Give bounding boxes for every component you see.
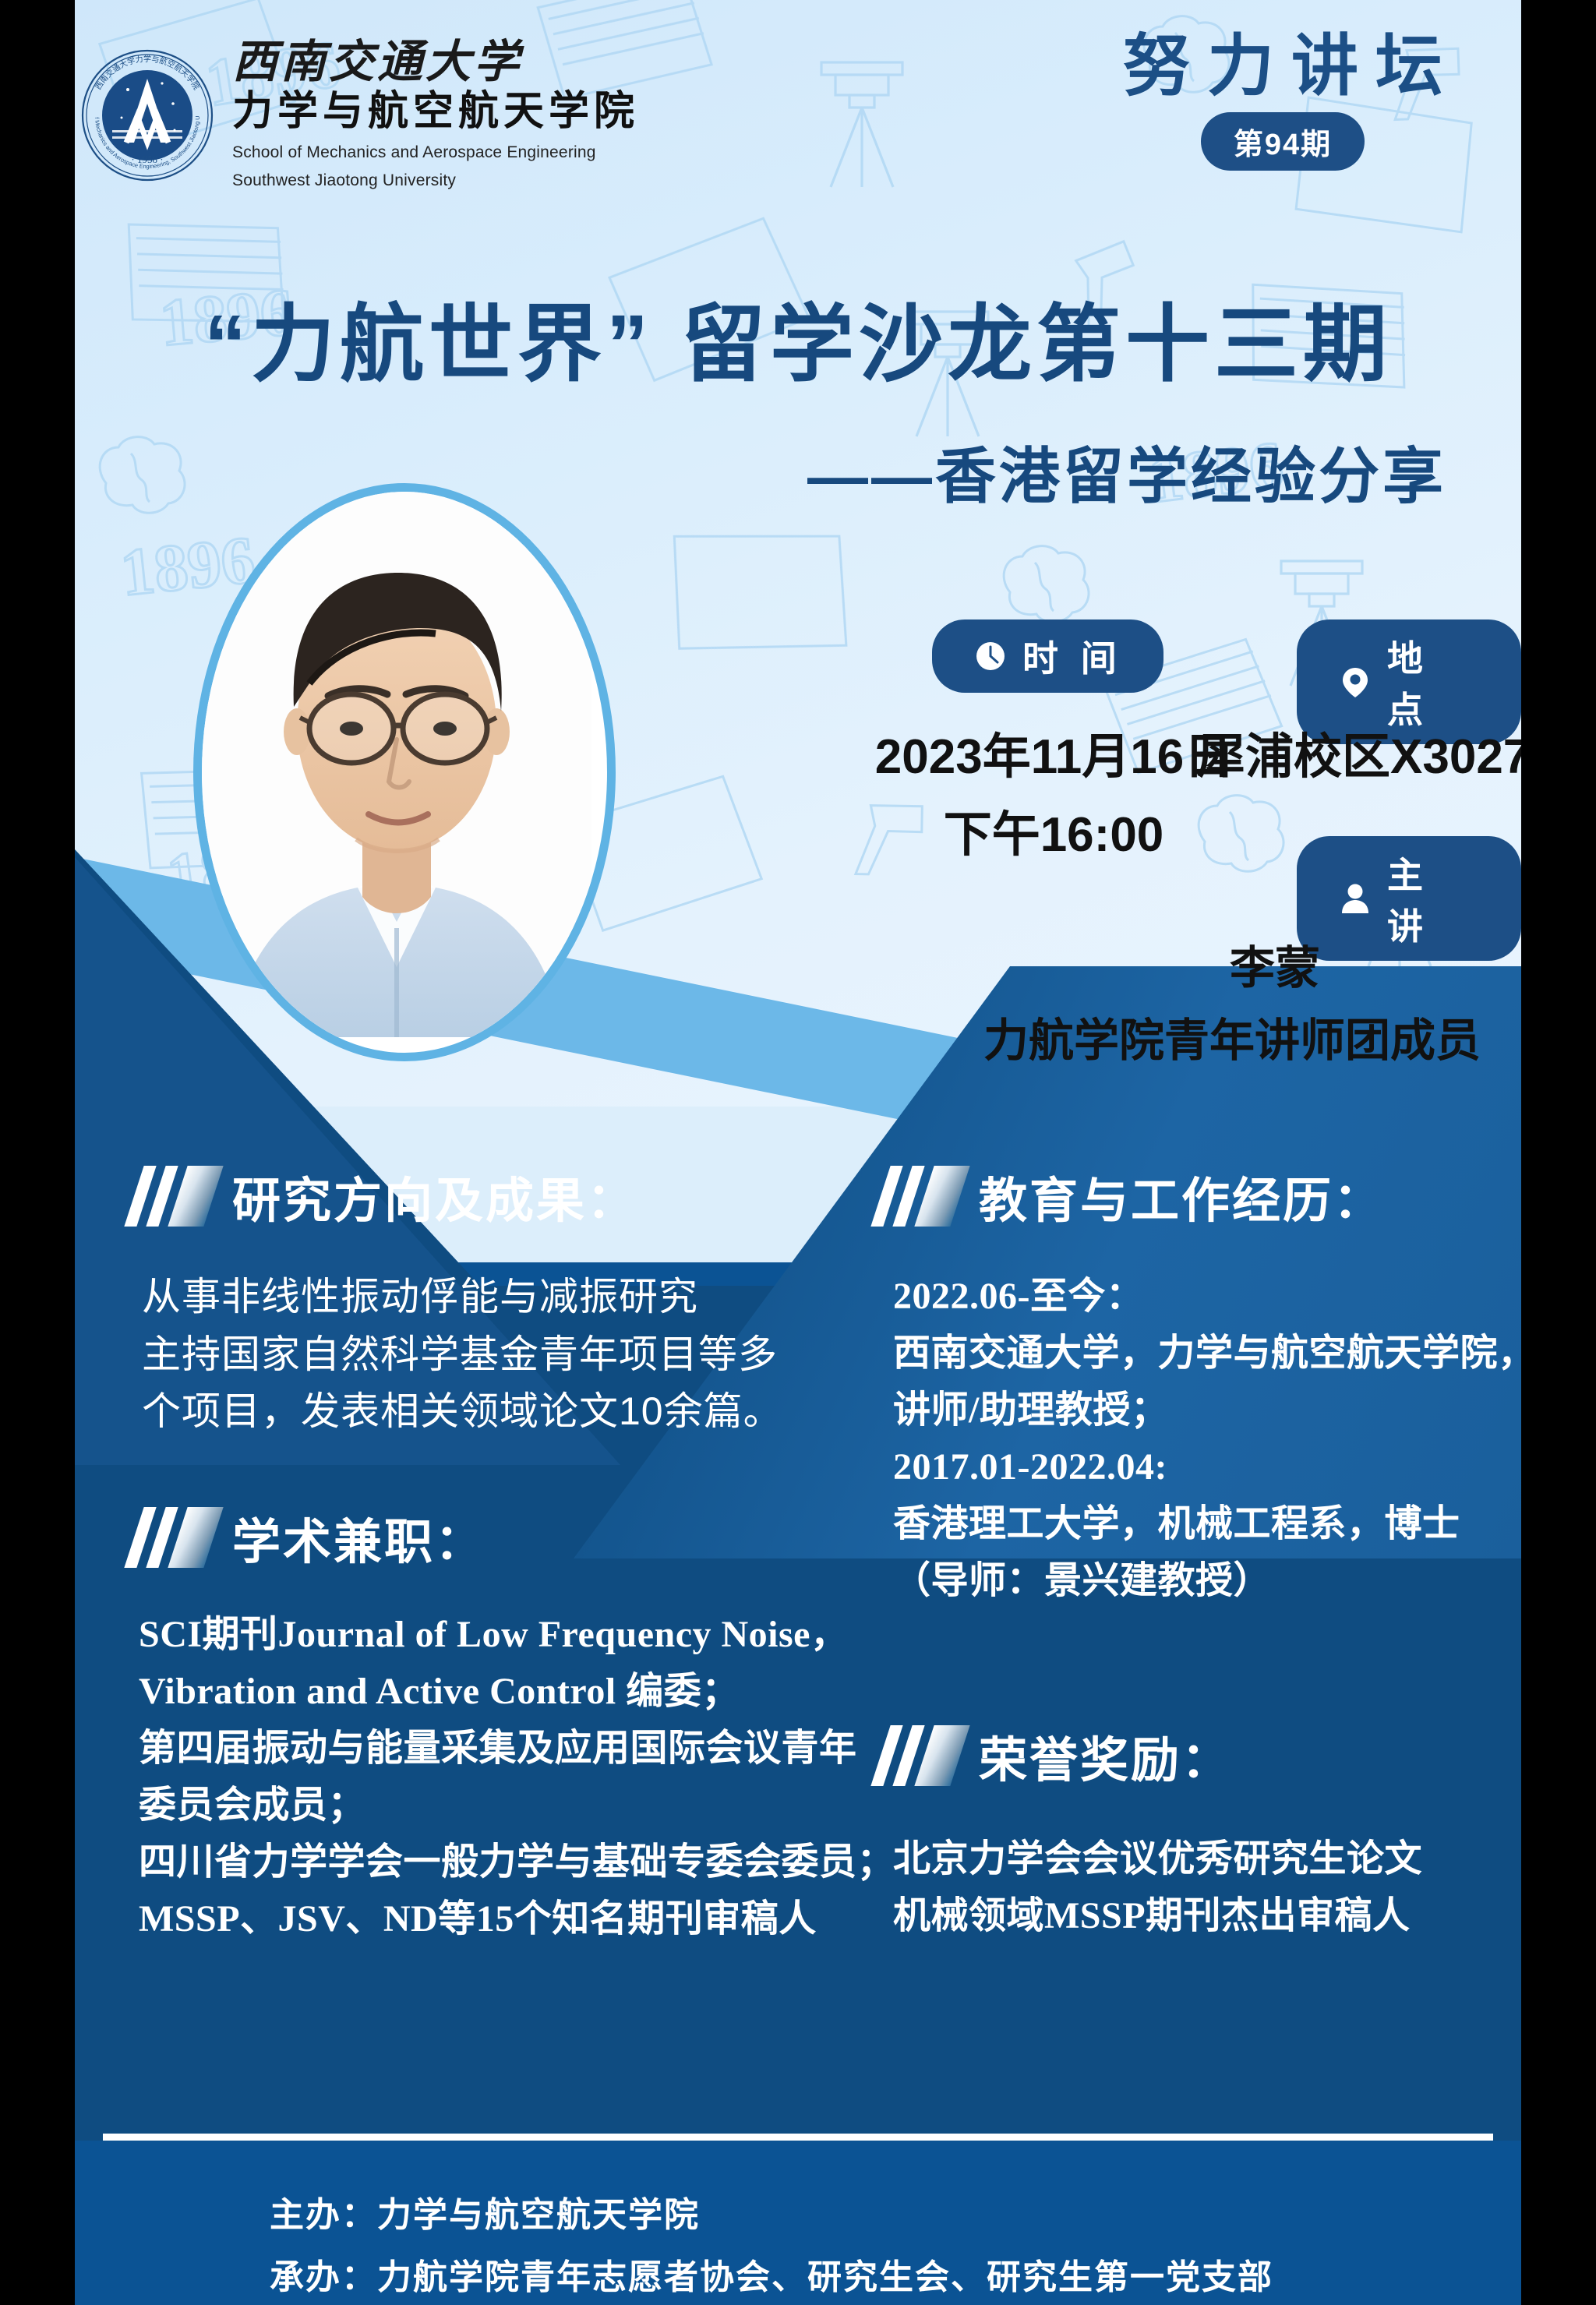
section-mark-icon bbox=[877, 1725, 971, 1786]
forum-issue-badge: 第94期 bbox=[1201, 112, 1365, 171]
speaker-role-value: 力航学院青年讲师团成员 bbox=[955, 1004, 1509, 1069]
research-line-3: 个项目，发表相关领域论文10余篇。 bbox=[142, 1383, 783, 1441]
event-time-value: 下午16:00 bbox=[828, 795, 1280, 865]
forum-branding: 努力讲坛 第94期 bbox=[1080, 31, 1485, 171]
experience-line-5: 香港理工大学，机械工程系，博士 bbox=[893, 1496, 1521, 1553]
section-header-honors: 荣誉奖励： bbox=[877, 1721, 1232, 1791]
experience-body: 2022.06-至今： 西南交通大学，力学与航空航天学院， 讲师/助理教授； 2… bbox=[893, 1269, 1521, 1610]
academic-line-1: SCI期刊Journal of Low Frequency Noise， bbox=[139, 1607, 895, 1664]
school-logo-block: · 1958 · 西南交通大学力学与航空航天学院 School of Mecha… bbox=[81, 39, 639, 192]
section-title-academic: 学术兼职： bbox=[232, 1502, 486, 1573]
clock-icon bbox=[973, 638, 1008, 674]
footer-organizer: 承办：力航学院青年志愿者协会、研究生会、研究生第一党支部 bbox=[270, 2249, 1273, 2299]
section-title-experience: 教育与工作经历： bbox=[979, 1161, 1384, 1231]
time-pill-label: 时 间 bbox=[1022, 630, 1123, 682]
academic-line-4: 委员会成员； bbox=[139, 1777, 895, 1834]
title-line-2: ——香港留学经验分享 bbox=[75, 428, 1521, 515]
research-line-1: 从事非线性振动俘能与减振研究 bbox=[142, 1269, 783, 1326]
experience-line-6: （导师：景兴建教授） bbox=[893, 1553, 1521, 1610]
footer-host: 主办：力学与航空航天学院 bbox=[270, 2187, 700, 2236]
poster-root: 1896 bbox=[0, 0, 1596, 2305]
experience-line-1: 2022.06-至今： bbox=[893, 1269, 1521, 1325]
academic-line-2: Vibration and Active Control 编委； bbox=[139, 1664, 895, 1721]
section-title-honors: 荣誉奖励： bbox=[979, 1721, 1232, 1791]
page-title: “力航世界” 留学沙龙第十三期 ——香港留学经验分享 bbox=[75, 298, 1521, 515]
school-name-en-line1: School of Mechanics and Aerospace Engine… bbox=[232, 142, 639, 164]
university-name-cn: 西南交通大学 bbox=[232, 39, 639, 86]
school-name-cn: 力学与航空航天学院 bbox=[232, 88, 639, 136]
school-name-text: 西南交通大学 力学与航空航天学院 School of Mechanics and… bbox=[232, 39, 639, 192]
speaker-name-value: 李蒙 bbox=[1041, 931, 1509, 997]
experience-line-4: 2017.01-2022.04: bbox=[893, 1439, 1521, 1496]
academic-line-6: MSSP、JSV、ND等15个知名期刊审稿人 bbox=[139, 1891, 895, 1948]
experience-line-2: 西南交通大学，力学与航空航天学院， bbox=[893, 1325, 1521, 1382]
section-header-research: 研究方向及成果： bbox=[131, 1161, 637, 1231]
honors-line-2: 机械领域MSSP期刊杰出审稿人 bbox=[893, 1888, 1422, 1945]
section-mark-icon bbox=[131, 1166, 224, 1227]
poster-canvas: 1896 bbox=[75, 0, 1521, 2305]
academic-line-3: 第四届振动与能量采集及应用国际会议青年 bbox=[139, 1721, 895, 1777]
section-mark-icon bbox=[131, 1507, 224, 1568]
title-line-1: “力航世界” 留学沙龙第十三期 bbox=[75, 298, 1521, 392]
section-mark-icon bbox=[877, 1166, 971, 1227]
forum-title: 努力讲坛 bbox=[1080, 31, 1485, 101]
section-header-academic: 学术兼职： bbox=[131, 1502, 486, 1573]
time-pill: 时 间 bbox=[932, 619, 1163, 693]
experience-line-3: 讲师/助理教授； bbox=[893, 1382, 1521, 1439]
research-body: 从事非线性振动俘能与减振研究 主持国家自然科学基金青年项目等多 个项目，发表相关… bbox=[142, 1269, 783, 1441]
academic-body: SCI期刊Journal of Low Frequency Noise， Vib… bbox=[139, 1607, 895, 1948]
school-crest-icon: · 1958 · 西南交通大学力学与航空航天学院 School of Mecha… bbox=[81, 49, 214, 182]
person-icon bbox=[1337, 881, 1373, 916]
section-title-research: 研究方向及成果： bbox=[232, 1161, 637, 1231]
school-name-en-line2: Southwest Jiaotong University bbox=[232, 170, 639, 192]
footer-divider bbox=[103, 2134, 1493, 2141]
honors-body: 北京力学会会议优秀研究生论文 机械领域MSSP期刊杰出审稿人 bbox=[893, 1831, 1422, 1945]
honors-line-1: 北京力学会会议优秀研究生论文 bbox=[893, 1831, 1422, 1888]
event-place-value: 犀浦校区X30278 bbox=[1197, 717, 1509, 787]
speaker-portrait bbox=[193, 483, 616, 1061]
section-header-experience: 教育与工作经历： bbox=[877, 1161, 1384, 1231]
academic-line-5: 四川省力学学会一般力学与基础专委会委员； bbox=[139, 1834, 895, 1891]
research-line-2: 主持国家自然科学基金青年项目等多 bbox=[142, 1326, 783, 1384]
map-pin-icon bbox=[1337, 664, 1373, 700]
